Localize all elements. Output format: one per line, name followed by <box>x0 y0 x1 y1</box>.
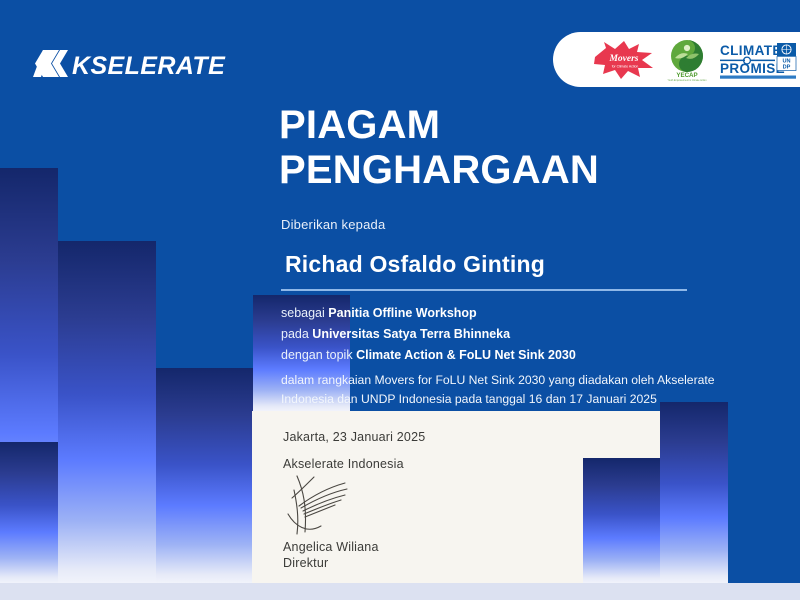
detail-row: sebagai Panitia Offline Workshop <box>281 303 711 324</box>
svg-text:Youth Empowerment in Climate A: Youth Empowerment in Climate Action <box>668 79 707 82</box>
akselerate-chevron-icon <box>33 50 69 82</box>
detail-row: pada Universitas Satya Terra Bhinneka <box>281 324 711 345</box>
detail-label: pada <box>281 327 309 341</box>
signature-organization: Akselerate Indonesia <box>283 457 404 471</box>
movers-logo-icon: Movers for Climate Action <box>593 40 655 80</box>
decorative-bar-right-1 <box>583 458 660 583</box>
title-line-1: PIAGAM <box>279 103 599 148</box>
detail-value: Panitia Offline Workshop <box>328 306 476 320</box>
signatory-role: Direktur <box>283 556 328 570</box>
detail-label: sebagai <box>281 306 325 320</box>
recipient-divider <box>281 289 687 291</box>
certificate-canvas: KSELERATE Movers for Climate Action YECA… <box>0 0 800 600</box>
certificate-title: PIAGAM PENGHARGAAN <box>279 103 599 193</box>
description-line-2: Indonesia dan UNDP Indonesia pada tangga… <box>281 390 706 409</box>
description-line-1: dalam rangkaian Movers for FoLU Net Sink… <box>281 371 706 390</box>
svg-text:for Climate Action: for Climate Action <box>612 64 639 68</box>
award-description: dalam rangkaian Movers for FoLU Net Sink… <box>281 371 706 408</box>
detail-label: dengan topik <box>281 348 353 362</box>
brand-name: KSELERATE <box>72 54 225 79</box>
detail-row: dengan topik Climate Action & FoLU Net S… <box>281 345 711 366</box>
svg-text:YECAP: YECAP <box>676 72 697 79</box>
given-to-label: Diberikan kepada <box>281 217 385 232</box>
decorative-bar-left-4 <box>156 368 253 583</box>
signature-place-date: Jakarta, 23 Januari 2025 <box>283 430 425 444</box>
svg-text:CLIMATE: CLIMATE <box>720 43 782 58</box>
title-line-2: PENGHARGAAN <box>279 148 599 193</box>
decorative-bar-left-2 <box>58 241 156 583</box>
svg-text:PROMISE: PROMISE <box>720 61 785 76</box>
bottom-strip <box>0 583 800 600</box>
yecap-logo-icon: YECAP Youth Empowerment in Climate Actio… <box>667 38 707 82</box>
climate-promise-logo-icon: CLIMATE PROMISE UN DP <box>719 40 797 80</box>
award-details: sebagai Panitia Offline Workshop pada Un… <box>281 303 711 366</box>
svg-text:DP: DP <box>783 64 791 70</box>
decorative-bar-left-3 <box>0 442 58 583</box>
detail-value: Climate Action & FoLU Net Sink 2030 <box>356 348 576 362</box>
brand-logo: KSELERATE <box>33 50 225 82</box>
recipient-name: Richad Osfaldo Ginting <box>285 251 545 278</box>
signatory-name: Angelica Wiliana <box>283 540 379 554</box>
svg-text:Movers: Movers <box>608 54 638 64</box>
decorative-bar-right-2 <box>660 402 728 583</box>
handwritten-signature-icon <box>283 470 393 545</box>
partner-logos: Movers for Climate Action YECAP Youth Em… <box>553 32 800 87</box>
detail-value: Universitas Satya Terra Bhinneka <box>312 327 510 341</box>
